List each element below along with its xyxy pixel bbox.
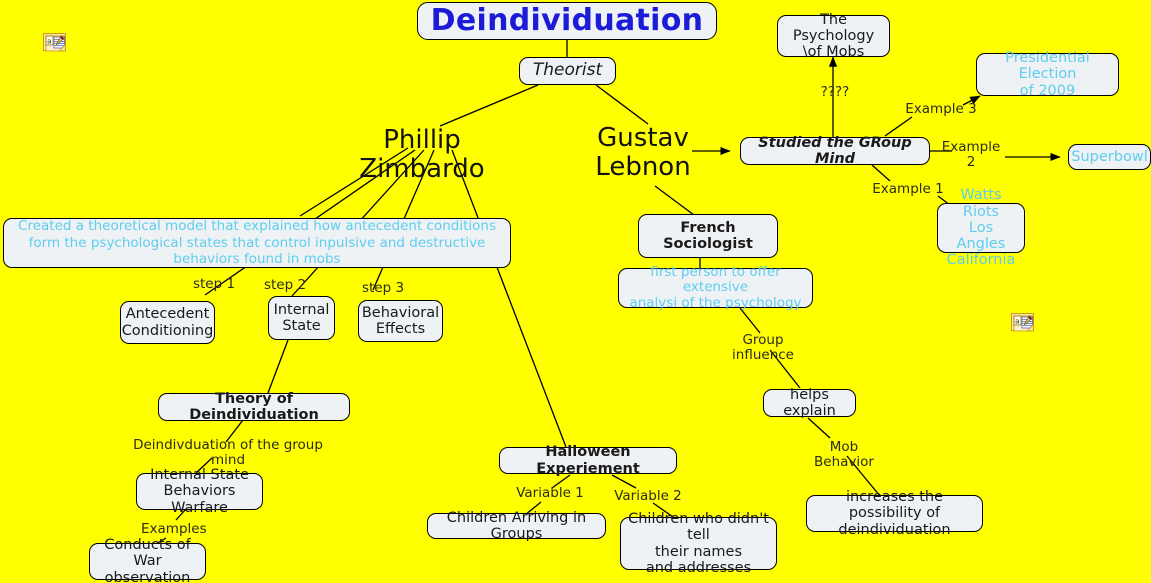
link-label-mob-behavior: Mob Behavior	[800, 440, 888, 470]
node-children-arriving-in-groups[interactable]: Children Arriving in Groups	[427, 513, 606, 539]
svg-text:a: a	[47, 38, 51, 46]
node-halloween-experiement[interactable]: Halloween Experiement	[499, 447, 677, 474]
concept-map-canvas: Deindividuation Theorist Phillip Zimbard…	[0, 0, 1151, 583]
node-studied-the-group-mind[interactable]: Studied the GRoup Mind	[740, 137, 930, 165]
node-first-person-analysis[interactable]: first person to offer extensive analysi …	[618, 268, 813, 308]
note-annotation-icon[interactable]: a	[1011, 313, 1037, 334]
link-label-step-1: step 1	[190, 277, 238, 292]
node-theorist[interactable]: Theorist	[519, 57, 616, 85]
link-label-step-3: step 3	[359, 281, 407, 296]
svg-text:a: a	[1015, 318, 1019, 326]
node-watts-riots[interactable]: Watts Riots Los Angles California	[937, 203, 1025, 253]
link-label-example-2: Example 2	[938, 140, 1004, 170]
link-label-group-influence: Group influence	[712, 333, 814, 363]
node-increases-possibility[interactable]: increases the possibility of deindividua…	[806, 495, 983, 532]
node-psychology-of-mobs[interactable]: The Psychology \of Mobs	[777, 15, 890, 57]
link-label-variable-1: Variable 1	[511, 486, 589, 501]
node-theory-of-deindividuation[interactable]: Theory of Deindividuation	[158, 393, 350, 421]
link-label-variable-2: Variable 2	[609, 489, 687, 504]
node-french-sociologist[interactable]: French Sociologist	[638, 214, 778, 258]
node-children-who-didnt-tell-names[interactable]: Children who didn't tell their names and…	[620, 517, 777, 570]
note-annotation-icon[interactable]: a	[43, 33, 69, 54]
page-title: Deindividuation	[417, 2, 717, 40]
link-label-example-3: Example 3	[905, 102, 977, 117]
node-superbowl[interactable]: Superbowl	[1068, 144, 1151, 170]
link-label-examples: Examples	[141, 522, 205, 537]
node-conducts-of-war-observation[interactable]: Conducts of War observation	[89, 543, 206, 580]
node-behavioral-effects[interactable]: Behavioral Effects	[358, 300, 443, 342]
node-gustav-lebnon[interactable]: Gustav Lebnon	[588, 124, 698, 182]
link-label-deindivduation-group-mind: Deindivduation of the group mind	[126, 438, 330, 468]
link-label-step-2: step 2	[261, 278, 309, 293]
node-internal-state-behaviors-warfare[interactable]: Internal State Behaviors Warfare	[136, 473, 263, 510]
node-phillip-zimbardo[interactable]: Phillip Zimbardo	[322, 126, 522, 184]
node-internal-state[interactable]: Internal State	[268, 296, 335, 340]
link-label-example-1: Example 1	[872, 182, 944, 197]
link-label-question-marks: ????	[810, 85, 860, 100]
node-presidential-election[interactable]: Presidential Election of 2009	[976, 53, 1119, 96]
node-created-theoretical-model[interactable]: Created a theoretical model that explain…	[3, 218, 511, 268]
node-helps-explain[interactable]: helps explain	[763, 389, 856, 417]
node-antecedent-conditioning[interactable]: Antecedent Conditioning	[120, 301, 215, 344]
